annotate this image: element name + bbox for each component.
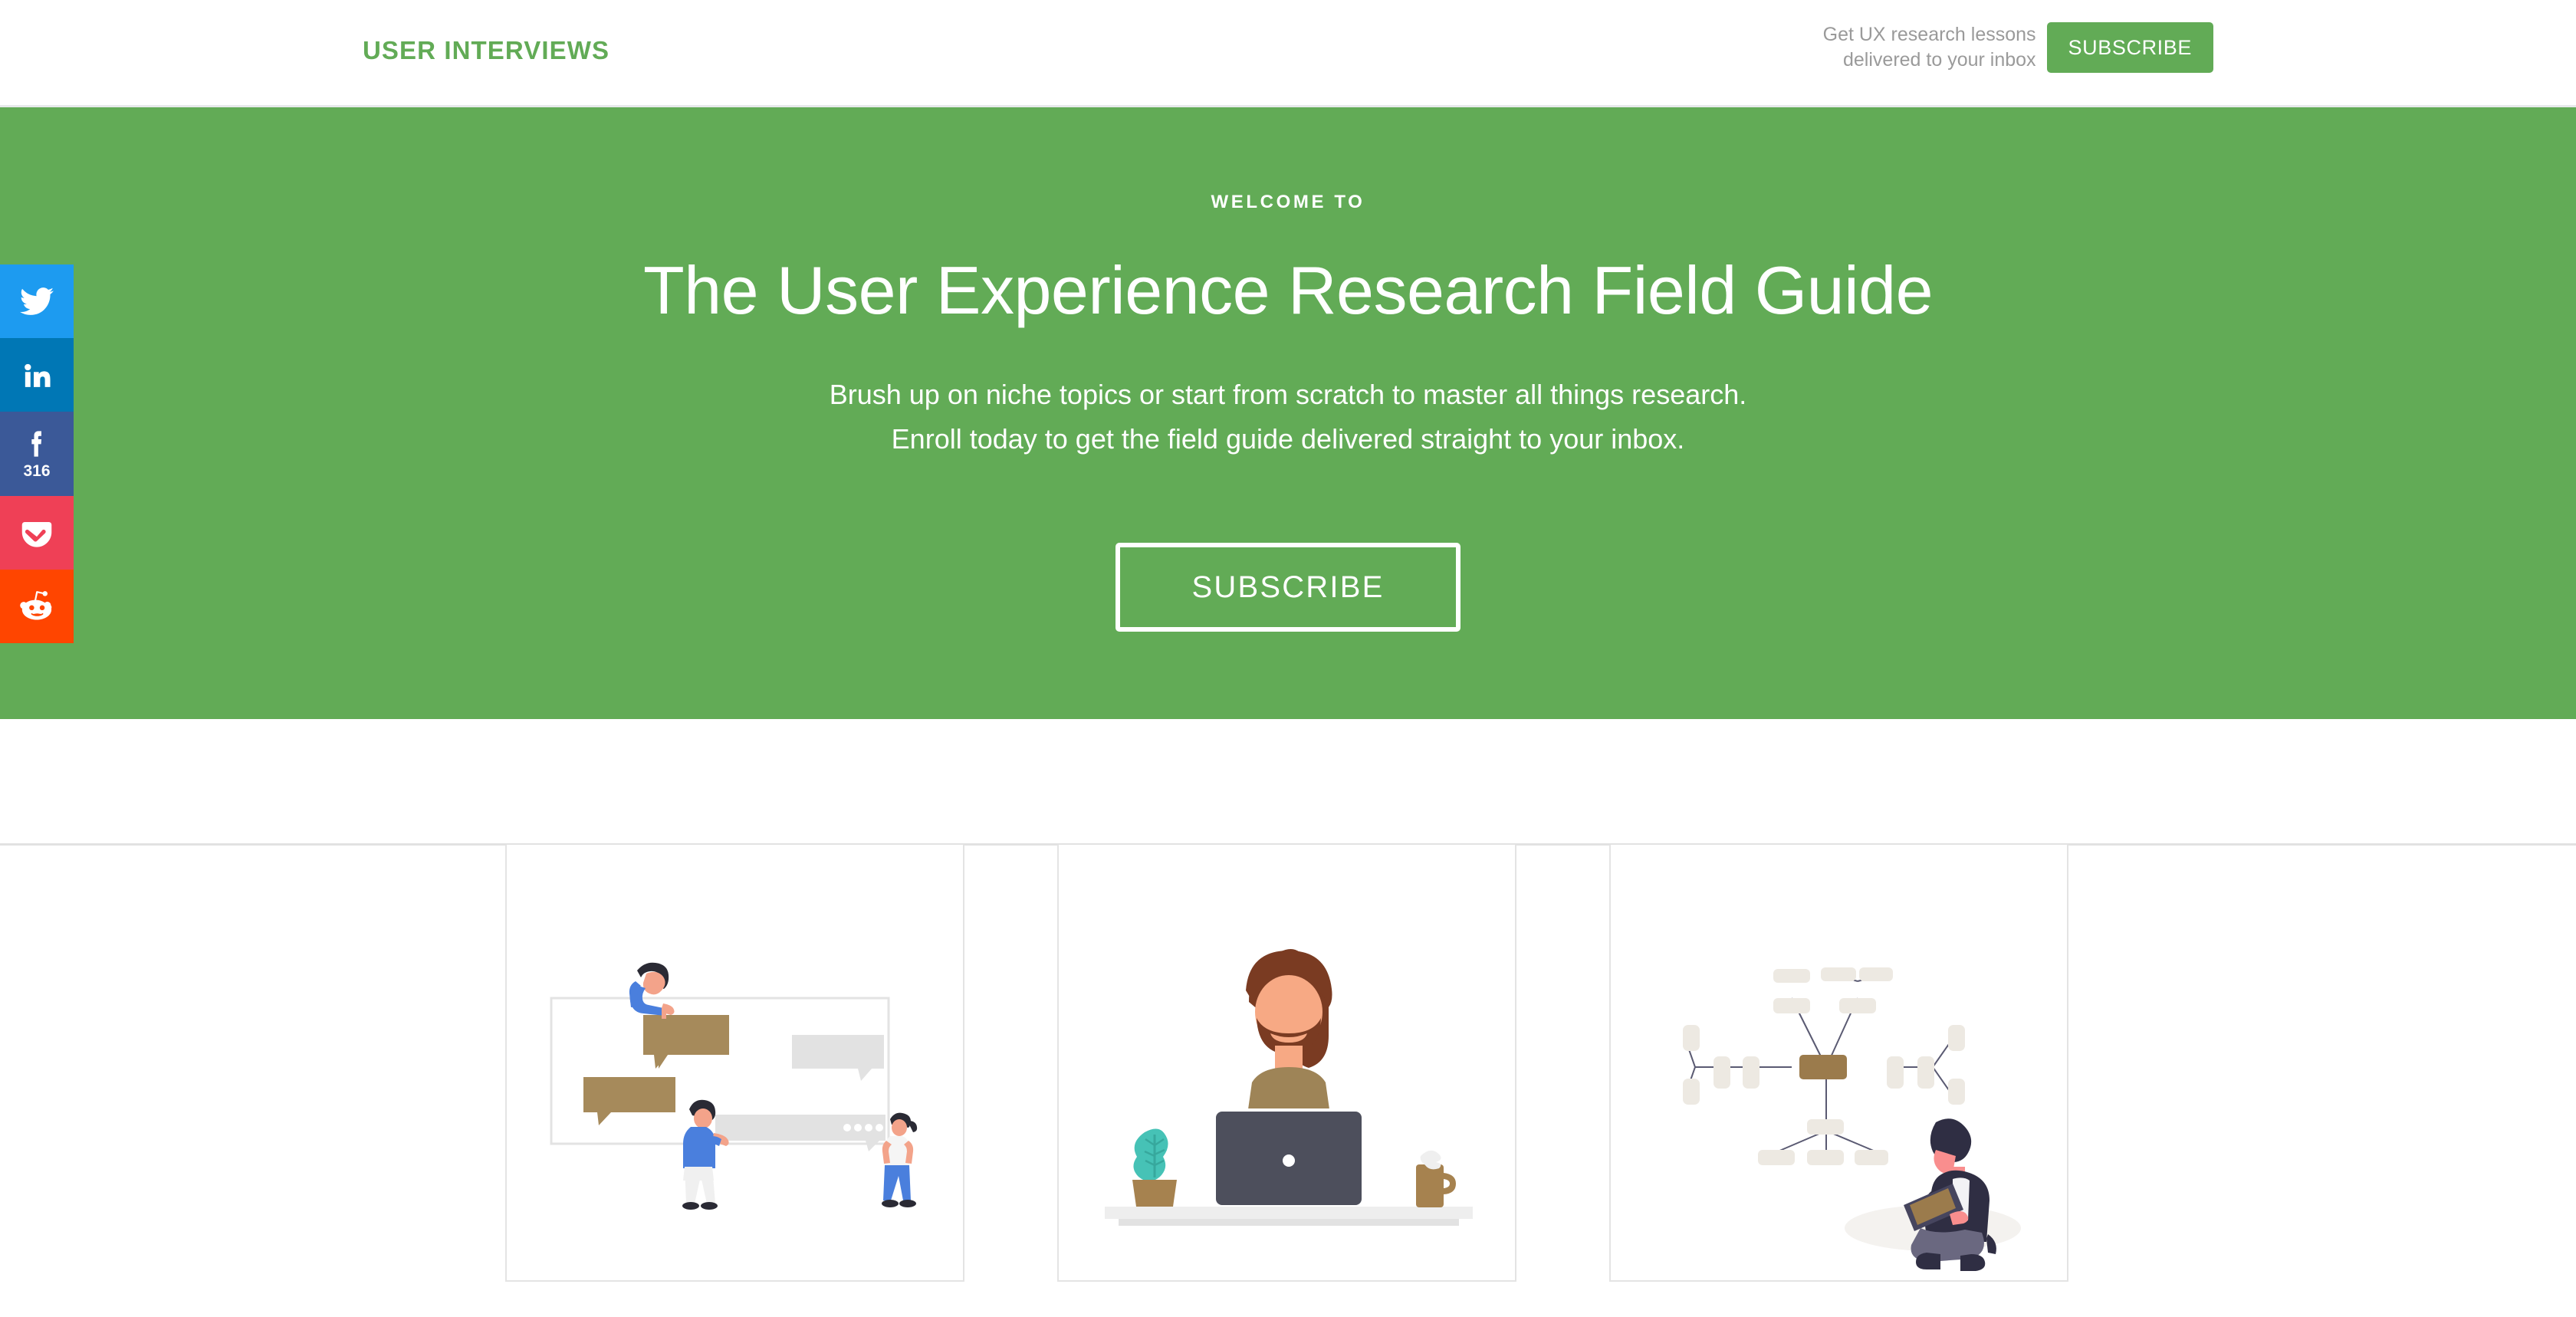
share-pocket-button[interactable] [0,496,74,570]
facebook-share-count: 316 [23,463,50,479]
pocket-icon [21,517,53,549]
social-share-rail: 316 [0,264,74,643]
hero-subtitle: Brush up on niche topics or start from s… [0,373,2576,462]
header-subscribe-button[interactable]: SUBSCRIBE [2047,22,2213,73]
share-linkedin-button[interactable] [0,338,74,412]
twitter-icon [20,284,54,318]
course-card[interactable] [505,845,964,1282]
hero-section: WELCOME TO The User Experience Research … [0,107,2576,719]
mind-map-illustration [1611,845,2068,1282]
cards-section [0,719,2576,1317]
page-title: The User Experience Research Field Guide [0,253,2576,329]
linkedin-icon [21,360,52,390]
site-logo[interactable]: USER INTERVIEWS [363,36,609,65]
header-tagline: Get UX research lessons delivered to you… [1823,22,2036,73]
share-facebook-button[interactable]: 316 [0,412,74,496]
site-header: USER INTERVIEWS Get UX research lessons … [0,0,2576,107]
reddit-icon [20,590,54,623]
course-card[interactable] [1057,845,1516,1282]
hero-subscribe-button[interactable]: SUBSCRIBE [1115,543,1460,632]
conversation-bubbles-illustration [507,845,964,1282]
course-card-row [505,845,2069,1282]
share-reddit-button[interactable] [0,570,74,643]
hero-eyebrow: WELCOME TO [0,192,2576,213]
header-right-group: Get UX research lessons delivered to you… [1823,22,2213,73]
share-twitter-button[interactable] [0,264,74,338]
person-at-laptop-illustration [1059,845,1516,1282]
facebook-icon [21,429,52,459]
course-card[interactable] [1609,845,2068,1282]
